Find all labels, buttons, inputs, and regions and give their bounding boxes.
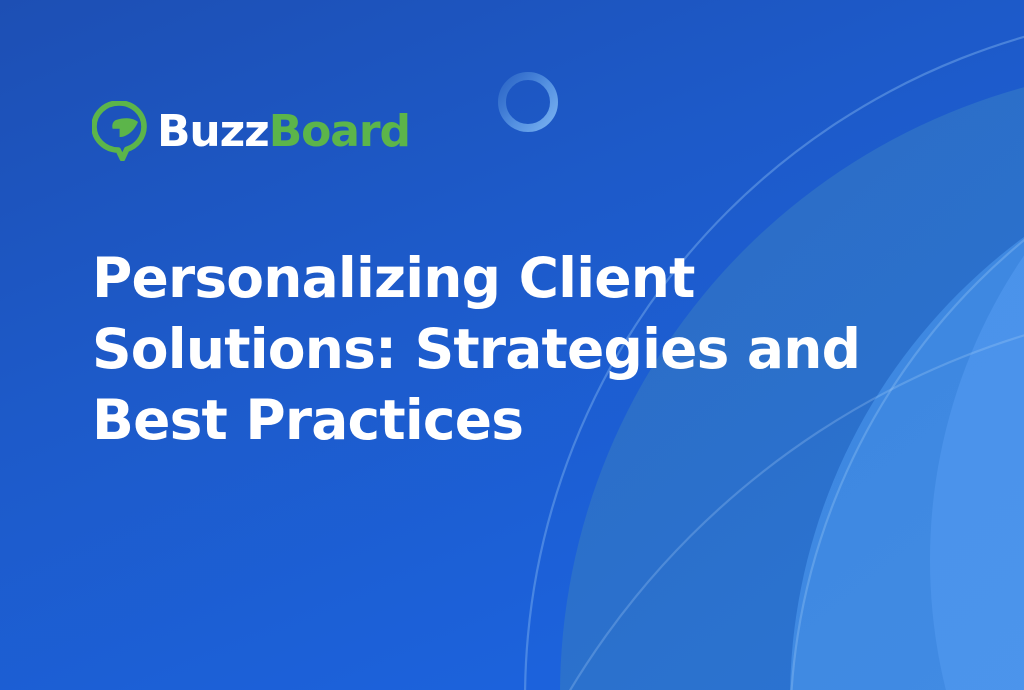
buzzboard-logo[interactable]: BuzzBoard bbox=[92, 100, 410, 162]
headline-line-1: Personalizing Client bbox=[92, 243, 792, 314]
headline-line-3: Best Practices bbox=[92, 385, 792, 456]
blog-banner: BuzzBoard Personalizing Client Solutions… bbox=[0, 0, 1024, 690]
headline-line-2: Solutions: Strategies and bbox=[92, 314, 792, 385]
logo-word-board: Board bbox=[269, 106, 410, 157]
buzzboard-wordmark: BuzzBoard bbox=[157, 110, 410, 154]
buzzboard-speech-bubble-icon bbox=[92, 101, 148, 161]
page-title: Personalizing Client Solutions: Strategi… bbox=[92, 243, 792, 456]
logo-word-buzz: Buzz bbox=[157, 106, 269, 157]
